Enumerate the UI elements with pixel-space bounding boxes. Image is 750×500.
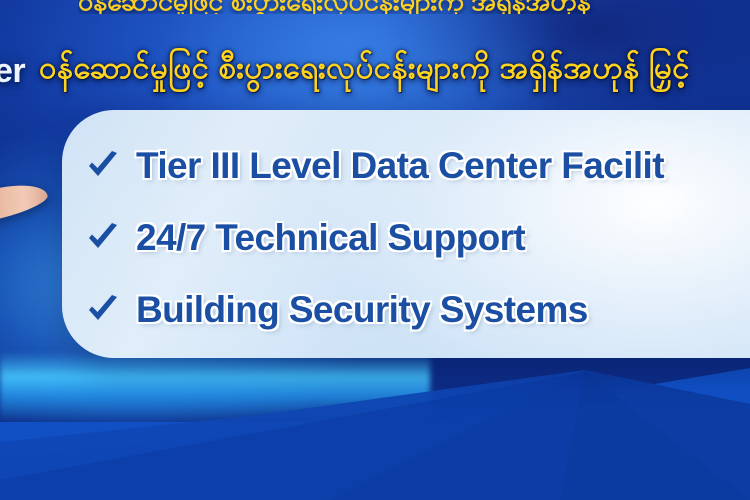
headline-row: er ဝန်ဆောင်မှုဖြင့် စီးပွားရေးလုပ်ငန်းမျ… (0, 47, 750, 95)
check-icon (86, 221, 120, 255)
list-item: 24/7 Technical Support (86, 202, 750, 274)
headline-burmese: ဝန်ဆောင်မှုဖြင့် စီးပွားရေးလုပ်ငန်းများက… (39, 48, 690, 94)
headline-top-clipped: ဝန်ဆောင်မှုဖြင့် စီးပွားရေးလုပ်ငန်းများက… (78, 0, 750, 14)
contact-bar: PT Subscribers) 09426000323 (For Any oth… (0, 408, 750, 500)
list-item: Building Security Systems (86, 274, 750, 346)
feature-label: Tier III Level Data Center Facilit (136, 145, 664, 187)
mpt-promo-banner: ဝန်ဆောင်မှုဖြင့် စီးပွားရေးလုပ်ငန်းများက… (0, 0, 750, 500)
check-icon (86, 149, 120, 183)
feature-card: Tier III Level Data Center Facilit 24/7 … (62, 110, 750, 358)
feature-list: Tier III Level Data Center Facilit 24/7 … (86, 130, 750, 346)
check-icon (86, 293, 120, 327)
feature-label: 24/7 Technical Support (136, 217, 525, 259)
headline-english-fragment: er (0, 52, 25, 91)
list-item: Tier III Level Data Center Facilit (86, 130, 750, 202)
feature-label: Building Security Systems (136, 289, 588, 331)
